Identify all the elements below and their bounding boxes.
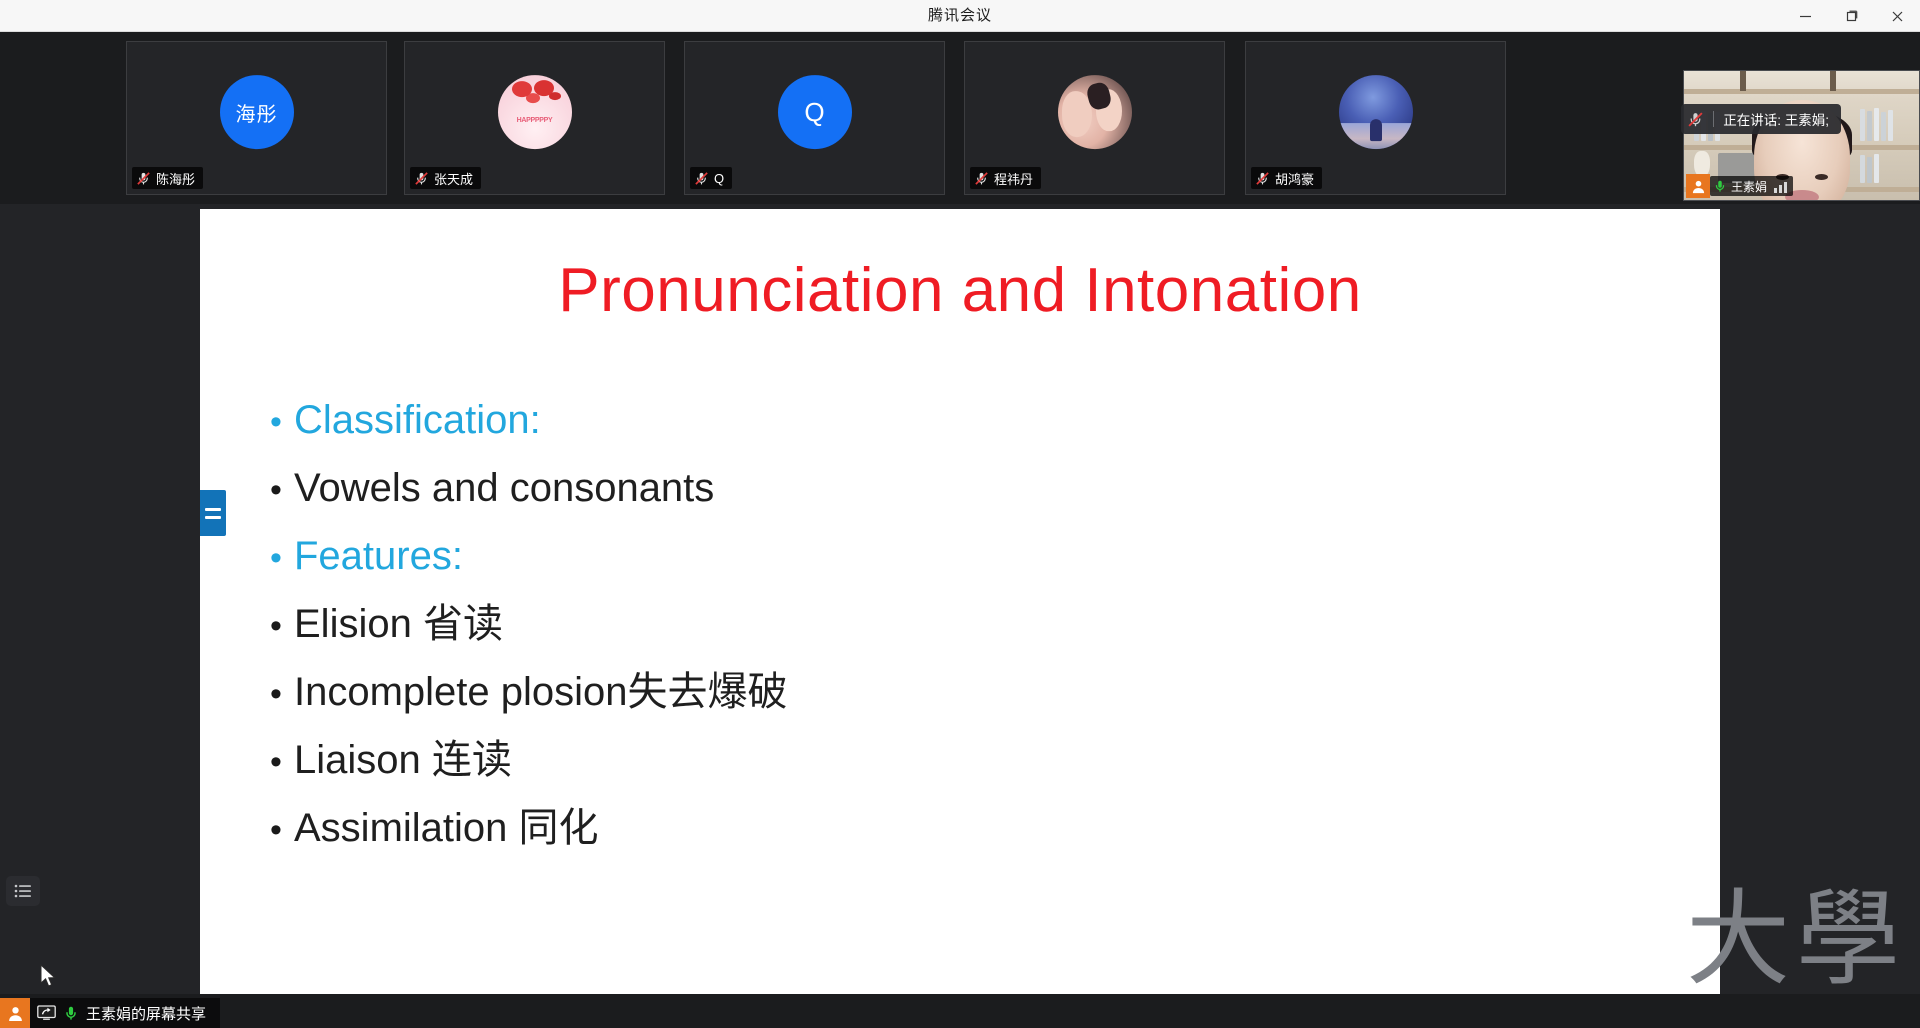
bullet-dot-icon: • <box>260 813 294 847</box>
bullet-dot-icon: • <box>260 745 294 779</box>
avatar <box>498 75 572 149</box>
participant-nameplate: Q <box>690 167 732 189</box>
avatar <box>1339 75 1413 149</box>
mic-muted-icon <box>974 171 989 186</box>
window-title: 腾讯会议 <box>0 0 1920 32</box>
list-item: • Liaison 连读 <box>260 739 1680 795</box>
mic-on-icon <box>1713 179 1727 193</box>
list-item: • Elision 省读 <box>260 603 1680 659</box>
bullet-dot-icon: • <box>260 473 294 507</box>
list-item: • Vowels and consonants <box>260 467 1680 523</box>
participant-tile[interactable]: 张天成 <box>404 41 665 195</box>
speaking-toast-text: 正在讲话: 王素娟; <box>1723 109 1829 129</box>
screen-share-icon <box>37 1005 56 1021</box>
participant-nameplate: 张天成 <box>410 167 481 189</box>
mic-on-icon <box>63 1005 79 1021</box>
speaker-video-tile[interactable]: 王素娟 <box>1683 70 1920 201</box>
avatar: 海彤 <box>220 75 294 149</box>
minimize-button[interactable] <box>1782 0 1828 32</box>
participant-nameplate: 胡鸿豪 <box>1251 167 1322 189</box>
avatar-initials: Q <box>804 97 824 128</box>
list-item: • Assimilation 同化 <box>260 807 1680 863</box>
participant-name: 胡鸿豪 <box>1275 169 1314 188</box>
participant-name: 陈海彤 <box>156 169 195 188</box>
avatar: Q <box>778 75 852 149</box>
mic-muted-icon <box>1255 171 1270 186</box>
screen-share-text: 王素娟的屏幕共享 <box>86 1003 206 1024</box>
participant-name: 张天成 <box>434 169 473 188</box>
list-item: • Classification: <box>260 399 1680 455</box>
avatar <box>1058 75 1132 149</box>
shared-screen-stage: Pronunciation and Intonation • Classific… <box>0 204 1920 1028</box>
bullet-dot-icon: • <box>260 677 294 711</box>
participant-nameplate: 程祎丹 <box>970 167 1041 189</box>
participant-tile[interactable]: 胡鸿豪 <box>1245 41 1506 195</box>
window-titlebar: 腾讯会议 <box>0 0 1920 32</box>
mouse-cursor <box>40 964 58 990</box>
participant-tile[interactable]: 海彤 陈海彤 <box>126 41 387 195</box>
bullet-text: Classification: <box>294 399 541 441</box>
presentation-slide: Pronunciation and Intonation • Classific… <box>200 209 1720 999</box>
bullet-text: Liaison 连读 <box>294 739 512 781</box>
maximize-button[interactable] <box>1828 0 1874 32</box>
speaking-toast: 正在讲话: 王素娟; <box>1681 104 1841 134</box>
bullet-text: Features: <box>294 535 463 577</box>
mic-muted-icon <box>1687 111 1704 128</box>
participant-name: Q <box>714 171 724 186</box>
bullet-dot-icon: • <box>260 609 294 643</box>
mic-muted-icon <box>694 171 709 186</box>
host-icon <box>1686 174 1710 198</box>
bullet-text: Incomplete plosion失去爆破 <box>294 671 788 713</box>
screen-share-indicator[interactable]: 王素娟的屏幕共享 <box>0 998 220 1028</box>
bullet-dot-icon: • <box>260 405 294 439</box>
participant-filmstrip: 海彤 陈海彤 张天成 Q Q <box>0 32 1920 204</box>
close-button[interactable] <box>1874 0 1920 32</box>
slide-bullet-list: • Classification: • Vowels and consonant… <box>260 399 1680 875</box>
participant-tile[interactable]: 程祎丹 <box>964 41 1225 195</box>
speaker-name: 王素娟 <box>1731 178 1767 195</box>
list-icon <box>14 883 33 899</box>
slide-title: Pronunciation and Intonation <box>200 255 1720 326</box>
list-item: • Features: <box>260 535 1680 591</box>
mic-muted-icon <box>414 171 429 186</box>
bullet-text: Elision 省读 <box>294 603 503 645</box>
speaker-nameplate: 王素娟 <box>1710 176 1793 196</box>
bottom-statusbar: 王素娟的屏幕共享 <box>0 994 1920 1028</box>
bullet-text: Vowels and consonants <box>294 467 714 509</box>
avatar-initials: 海彤 <box>236 98 278 127</box>
bullet-dot-icon: • <box>260 541 294 575</box>
bullet-text: Assimilation 同化 <box>294 807 599 849</box>
annotation-list-button[interactable] <box>6 876 40 906</box>
participant-name: 程祎丹 <box>994 169 1033 188</box>
list-item: • Incomplete plosion失去爆破 <box>260 671 1680 727</box>
mic-muted-icon <box>136 171 151 186</box>
slide-navigation-tab[interactable] <box>200 490 226 536</box>
participant-tile[interactable]: Q Q <box>684 41 945 195</box>
participant-nameplate: 陈海彤 <box>132 167 203 189</box>
signal-bars-icon <box>1774 180 1787 193</box>
host-icon <box>0 998 30 1028</box>
